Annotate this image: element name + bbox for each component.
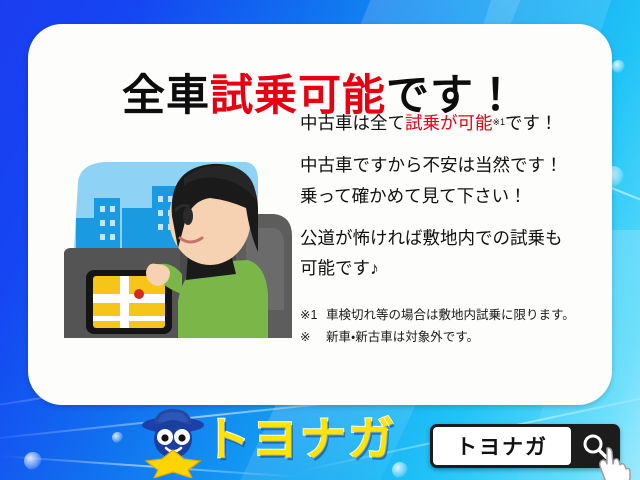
search-input[interactable]: [433, 427, 571, 465]
advertisement-banner: 全車試乗可能です！: [0, 0, 640, 480]
bg-bokeh-3: [24, 452, 42, 470]
search-widget[interactable]: [430, 424, 620, 468]
content-card: 全車試乗可能です！: [28, 24, 612, 405]
bg-bokeh-5: [612, 60, 625, 73]
footnote-2: ※新車・新古車は対象外です。: [300, 327, 600, 349]
toyonaga-star-mascot-icon: [140, 406, 206, 478]
copy-line-5: 可能です♪: [300, 254, 600, 282]
footnote-marker-1: ※1: [493, 117, 506, 127]
footnotes: ※1車検切れ等の場合は敷地内試乗に限ります。 ※新車・新古車は対象外です。: [300, 305, 600, 349]
footnote-2-text: 新車・新古車は対象外です。: [326, 330, 479, 344]
copy-line-1-part-1: 中古車は全て: [300, 113, 405, 133]
body-copy: 中古車は全て試乗が可能※1です！ 中古車ですから不安は当然です！ 乗って確かめて…: [300, 109, 600, 348]
copy-line-1: 中古車は全て試乗が可能※1です！: [300, 109, 600, 137]
magnifier-icon: [581, 433, 610, 460]
copy-line-1-part-3: です！: [505, 113, 558, 133]
footnote-2-marker: ※: [300, 327, 326, 349]
copy-line-3: 乗って確かめて見て下さい！: [300, 182, 600, 210]
copy-line-1-highlight: 試乗が可能: [405, 113, 493, 133]
driver-in-car-with-navigation-illustration: [60, 142, 300, 342]
footnote-1: ※1車検切れ等の場合は敷地内試乗に限ります。: [300, 305, 600, 327]
footnote-1-marker: ※1: [300, 305, 326, 327]
copy-line-4: 公道が怖ければ敷地内での試乗も: [300, 224, 600, 252]
brand-logo: トヨナガ: [140, 404, 420, 480]
copy-line-2: 中古車ですから不安は当然です！: [300, 151, 600, 179]
search-button[interactable]: [571, 424, 620, 468]
headline-part-1: 全車: [122, 72, 210, 120]
bg-bokeh-4: [112, 432, 123, 443]
footnote-1-text: 車検切れ等の場合は敷地内試乗に限ります。: [326, 308, 575, 322]
brand-logotype: トヨナガ: [204, 416, 396, 462]
